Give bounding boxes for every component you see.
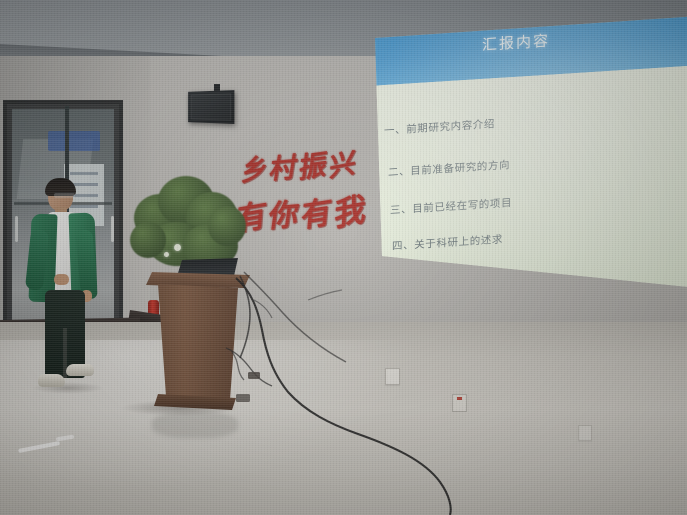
wall-mounted-speaker — [188, 90, 234, 124]
podium-column — [156, 284, 238, 400]
calligraphy-char: 我 — [326, 184, 367, 236]
person-left-hand — [54, 274, 69, 285]
presenter-standing — [18, 178, 110, 410]
speaker-grille — [191, 93, 231, 120]
slide-bullet-4: 四、关于科研上的述求 — [392, 232, 503, 254]
door-handle-right[interactable] — [111, 216, 114, 242]
calligraphy-char: 村 — [266, 146, 296, 188]
projected-slide-area[interactable]: 汇报内容 一、前期研究内容介绍 二、目前准备研究的方向 三、目前已经在写的项目 … — [370, 16, 687, 302]
calligraphy-row-2: 有 你 有 我 — [232, 186, 364, 239]
wooden-podium[interactable] — [146, 272, 250, 414]
person-left-shoe — [38, 374, 65, 387]
calligraphy-char: 振 — [294, 143, 327, 187]
calligraphy-char: 兴 — [323, 141, 357, 185]
plant-foliage — [130, 222, 166, 258]
plant-foliage — [208, 206, 246, 246]
plant-flower — [164, 252, 169, 257]
person-right-shoe — [66, 364, 94, 376]
calligraphy-char: 你 — [264, 189, 299, 238]
calligraphy-row-1: 乡 村 振 兴 — [238, 143, 355, 189]
wall-outlet[interactable] — [385, 368, 400, 385]
slide-bullet-2: 二、目前准备研究的方向 — [388, 157, 510, 180]
wall-outlet-red[interactable] — [452, 394, 467, 412]
plant-flower — [174, 244, 181, 251]
slide-title: 汇报内容 — [482, 30, 550, 55]
presentation-room-photo: 乡 村 振 兴 有 你 有 我 汇报内容 一、前期研究内容介绍 二、目前准备研究… — [0, 0, 687, 515]
slide-bullet-3: 三、目前已经在写的项目 — [390, 195, 512, 218]
slide-surface: 汇报内容 一、前期研究内容介绍 二、目前准备研究的方向 三、目前已经在写的项目 … — [370, 0, 687, 302]
wall-outlet[interactable] — [578, 425, 592, 441]
door-blue-reflection — [48, 131, 100, 151]
slide-bullet-1: 一、前期研究内容介绍 — [384, 116, 495, 138]
person-glasses — [54, 192, 75, 199]
